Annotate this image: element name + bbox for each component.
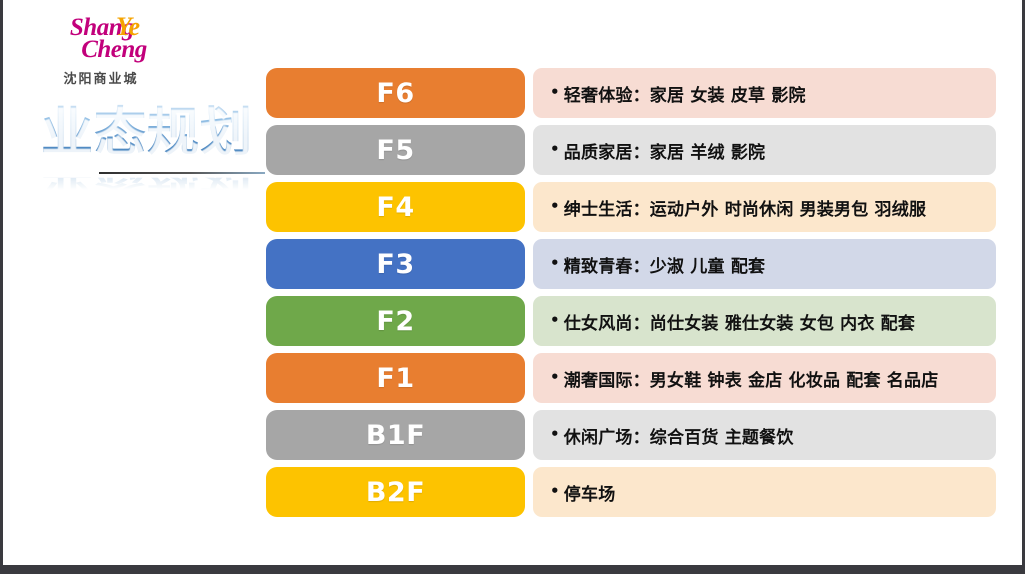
brand-script: Shang Ye Cheng	[21, 16, 181, 62]
bullet-icon: •	[550, 484, 560, 499]
floor-desc-f5: • 品质家居：家居 羊绒 影院	[533, 125, 996, 175]
floor-label-f4[interactable]: F4	[266, 182, 525, 232]
page-title-reflection: 业态规划	[41, 178, 291, 192]
floor-desc-f1: • 潮奢国际：男女鞋 钟表 金店 化妆品 配套 名品店	[533, 353, 996, 403]
floor-desc-text: 绅士生活：运动户外 时尚休闲 男装男包 羽绒服	[564, 195, 926, 220]
bullet-icon: •	[550, 142, 560, 157]
page-title-text: 业态规划	[41, 104, 291, 162]
floor-desc-text: 休闲广场：综合百货 主题餐饮	[564, 423, 794, 448]
floor-desc-f4: • 绅士生活：运动户外 时尚休闲 男装男包 羽绒服	[533, 182, 996, 232]
floor-plan-list: F6 • 轻奢体验：家居 女装 皮草 影院 F5 • 品质家居：家居 羊绒 影院…	[266, 68, 996, 524]
floor-desc-text: 潮奢国际：男女鞋 钟表 金店 化妆品 配套 名品店	[564, 366, 939, 391]
floor-desc-f3: • 精致青春：少淑 儿童 配套	[533, 239, 996, 289]
bullet-icon: •	[550, 85, 560, 100]
slide-canvas: Shang Ye Cheng 沈阳商业城 业态规划 业态规划 F6 • 轻奢体验…	[0, 0, 1025, 574]
floor-desc-text: 精致青春：少淑 儿童 配套	[564, 252, 765, 277]
table-row[interactable]: B1F • 休闲广场：综合百货 主题餐饮	[266, 410, 996, 460]
table-row[interactable]: F3 • 精致青春：少淑 儿童 配套	[266, 239, 996, 289]
table-row[interactable]: B2F • 停车场	[266, 467, 996, 517]
floor-label-f6[interactable]: F6	[266, 68, 525, 118]
floor-desc-text: 轻奢体验：家居 女装 皮草 影院	[564, 81, 806, 106]
brand-script-line2: Cheng	[21, 38, 181, 63]
floor-label-f1[interactable]: F1	[266, 353, 525, 403]
title-underline	[99, 172, 265, 174]
floor-label-f2[interactable]: F2	[266, 296, 525, 346]
table-row[interactable]: F1 • 潮奢国际：男女鞋 钟表 金店 化妆品 配套 名品店	[266, 353, 996, 403]
bullet-icon: •	[550, 256, 560, 271]
brand-logo: Shang Ye Cheng 沈阳商业城	[21, 16, 181, 87]
floor-label-b2f[interactable]: B2F	[266, 467, 525, 517]
floor-desc-text: 仕女风尚：尚仕女装 雅仕女装 女包 内衣 配套	[564, 309, 915, 334]
table-row[interactable]: F6 • 轻奢体验：家居 女装 皮草 影院	[266, 68, 996, 118]
floor-label-f3[interactable]: F3	[266, 239, 525, 289]
bullet-icon: •	[550, 199, 560, 214]
bullet-icon: •	[550, 427, 560, 442]
table-row[interactable]: F2 • 仕女风尚：尚仕女装 雅仕女装 女包 内衣 配套	[266, 296, 996, 346]
bullet-icon: •	[550, 313, 560, 328]
brand-chinese-name: 沈阳商业城	[21, 68, 181, 87]
floor-desc-b1f: • 休闲广场：综合百货 主题餐饮	[533, 410, 996, 460]
floor-label-f5[interactable]: F5	[266, 125, 525, 175]
table-row[interactable]: F4 • 绅士生活：运动户外 时尚休闲 男装男包 羽绒服	[266, 182, 996, 232]
table-row[interactable]: F5 • 品质家居：家居 羊绒 影院	[266, 125, 996, 175]
floor-desc-b2f: • 停车场	[533, 467, 996, 517]
floor-desc-f2: • 仕女风尚：尚仕女装 雅仕女装 女包 内衣 配套	[533, 296, 996, 346]
floor-desc-text: 品质家居：家居 羊绒 影院	[564, 138, 765, 163]
bullet-icon: •	[550, 370, 560, 385]
floor-desc-f6: • 轻奢体验：家居 女装 皮草 影院	[533, 68, 996, 118]
floor-label-b1f[interactable]: B1F	[266, 410, 525, 460]
floor-desc-text: 停车场	[564, 480, 616, 505]
brand-accent-y: Ye	[116, 14, 140, 39]
